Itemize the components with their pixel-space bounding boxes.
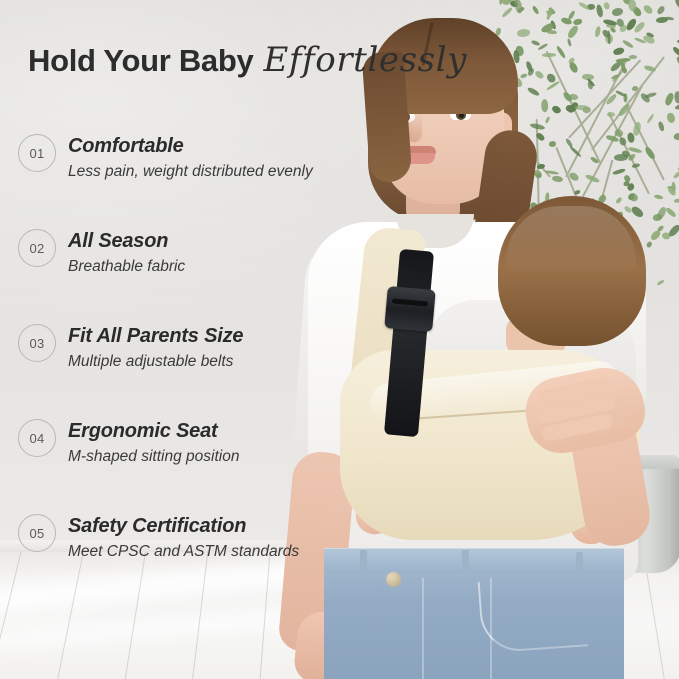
feature-item-03: 03Fit All Parents SizeMultiple adjustabl… — [18, 320, 358, 415]
feature-number-badge: 04 — [18, 419, 56, 457]
feature-subtitle: Meet CPSC and ASTM standards — [68, 543, 299, 561]
feature-item-02: 02All SeasonBreathable fabric — [18, 225, 358, 320]
woman-figure — [330, 0, 679, 679]
feature-number-badge: 02 — [18, 229, 56, 267]
feature-item-01: 01ComfortableLess pain, weight distribut… — [18, 130, 358, 225]
headline-main: Hold Your Baby — [28, 43, 253, 79]
page-headline: Hold Your Baby Effortlessly — [28, 40, 467, 80]
jeans-pocket — [478, 574, 589, 653]
belt-loop-2 — [462, 550, 469, 572]
feature-item-05: 05Safety CertificationMeet CPSC and ASTM… — [18, 510, 358, 605]
feature-subtitle: M-shaped sitting position — [68, 448, 239, 466]
feature-title: Comfortable — [68, 135, 184, 158]
feature-number-badge: 05 — [18, 514, 56, 552]
belt-loop-3 — [576, 552, 583, 574]
jeans-button — [386, 572, 401, 587]
feature-list: 01ComfortableLess pain, weight distribut… — [18, 130, 358, 605]
feature-item-04: 04Ergonomic SeatM-shaped sitting positio… — [18, 415, 358, 510]
feature-title: All Season — [68, 230, 168, 253]
jeans-seam-1 — [422, 578, 424, 679]
feature-title: Fit All Parents Size — [68, 325, 243, 348]
feature-subtitle: Less pain, weight distributed evenly — [68, 163, 313, 181]
feature-title: Ergonomic Seat — [68, 420, 217, 443]
feature-subtitle: Multiple adjustable belts — [68, 353, 233, 371]
feature-number-badge: 03 — [18, 324, 56, 362]
carrier-buckle — [384, 286, 435, 332]
product-infographic: Hold Your Baby Effortlessly 01Comfortabl… — [0, 0, 679, 679]
feature-number-badge: 01 — [18, 134, 56, 172]
belt-loop-1 — [360, 550, 367, 572]
feature-title: Safety Certification — [68, 515, 246, 538]
headline-script: Effortlessly — [263, 40, 467, 80]
feature-subtitle: Breathable fabric — [68, 258, 185, 276]
